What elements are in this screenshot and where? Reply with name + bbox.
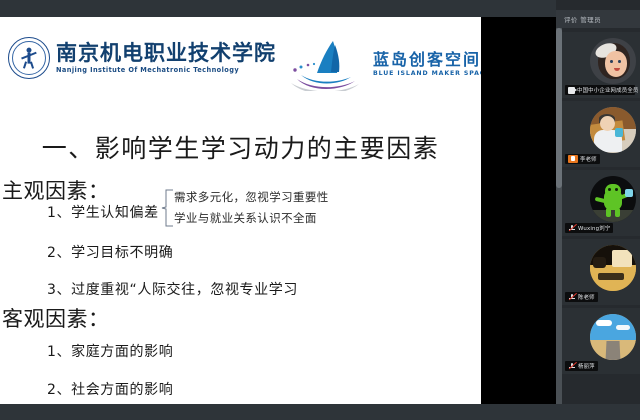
participant-name-badge: 陈老师 (565, 292, 598, 302)
participant-name: Wuxing刘宁 (578, 224, 610, 232)
section-heading-subjective: 主观因素： (2, 175, 110, 205)
participant-name-badge: 杨丽萍 (565, 361, 598, 371)
participant-tile[interactable]: Wuxing刘宁 (562, 170, 640, 236)
participant-tile[interactable]: 中国中小企业网成员全员 (562, 32, 640, 98)
institute-name-en: Nanjing Institute Of Mechatronic Technol… (56, 67, 276, 74)
participants-sidebar: 评价 管理员 中国中小企业网成员全员 (556, 0, 640, 420)
avatar (590, 107, 636, 153)
sidebar-header: 评价 管理员 (556, 10, 640, 28)
bullet-subjective-3: 3、过度重视“人际交往，忽视专业学习 (47, 279, 298, 299)
mic-muted-icon (568, 362, 576, 370)
participant-name-badge: 中国中小企业网成员全员 (565, 85, 635, 95)
shared-content-stage: 南京机电职业技术学院 Nanjing Institute Of Mechatro… (0, 17, 556, 404)
participant-tile[interactable]: 李老师 (562, 101, 640, 167)
camera-icon (568, 87, 575, 94)
section-heading-objective: 客观因素： (2, 303, 110, 333)
brace-note-2: 学业与就业关系认识不全面 (174, 210, 317, 226)
avatar (590, 38, 636, 84)
participant-tile-list: 中国中小企业网成员全员 李老师 (562, 32, 640, 420)
participant-tile[interactable]: 杨丽萍 (562, 308, 640, 374)
maker-space-name-cn: 蓝岛创客空间 (373, 52, 481, 68)
bullet-subjective-2: 2、学习目标不明确 (47, 242, 173, 262)
slide-title: 一、影响学生学习动力的主要因素 (0, 129, 481, 165)
bullet-objective-1: 1、家庭方面的影响 (47, 341, 173, 361)
participant-name: 杨丽萍 (578, 362, 595, 370)
institute-name-cn: 南京机电职业技术学院 (56, 43, 276, 64)
participant-name-badge: 李老师 (565, 154, 600, 164)
avatar (590, 245, 636, 291)
screen-share-badge-icon (568, 155, 578, 163)
maker-space-name-en: BLUE ISLAND MAKER SPACE (373, 71, 481, 77)
mic-muted-icon (568, 224, 576, 232)
window-top-bar (0, 0, 640, 17)
bullet-subjective-1: 1、学生认知偏差 (47, 202, 159, 222)
presentation-slide: 南京机电职业技术学院 Nanjing Institute Of Mechatro… (0, 17, 481, 404)
brace-annotation-group: 需求多元化，忽视学习重要性 学业与就业关系认识不全面 (160, 188, 360, 228)
participant-name: 中国中小企业网成员全员 (577, 86, 639, 94)
nanjing-institute-logo: 南京机电职业技术学院 Nanjing Institute Of Mechatro… (8, 37, 276, 79)
avatar (590, 314, 636, 360)
participant-name: 陈老师 (578, 293, 595, 301)
sidebar-header-label: 评价 管理员 (564, 14, 601, 24)
sailboat-icon (287, 39, 369, 91)
window-bottom-bar (0, 404, 640, 420)
avatar (590, 176, 636, 222)
slide-logo-row: 南京机电职业技术学院 Nanjing Institute Of Mechatro… (0, 17, 481, 99)
brace-note-1: 需求多元化，忽视学习重要性 (174, 189, 329, 205)
institute-seal-icon (8, 37, 50, 79)
meeting-screen-share-window: 南京机电职业技术学院 Nanjing Institute Of Mechatro… (0, 0, 640, 420)
participant-name-badge: Wuxing刘宁 (565, 223, 613, 233)
participant-name: 李老师 (580, 155, 597, 163)
curly-brace-icon (160, 188, 174, 228)
mic-muted-icon (568, 293, 576, 301)
participant-tile[interactable]: 陈老师 (562, 239, 640, 305)
bullet-objective-2: 2、社会方面的影响 (47, 379, 173, 399)
blue-island-maker-space-logo: 蓝岛创客空间 BLUE ISLAND MAKER SPACE (287, 39, 481, 91)
